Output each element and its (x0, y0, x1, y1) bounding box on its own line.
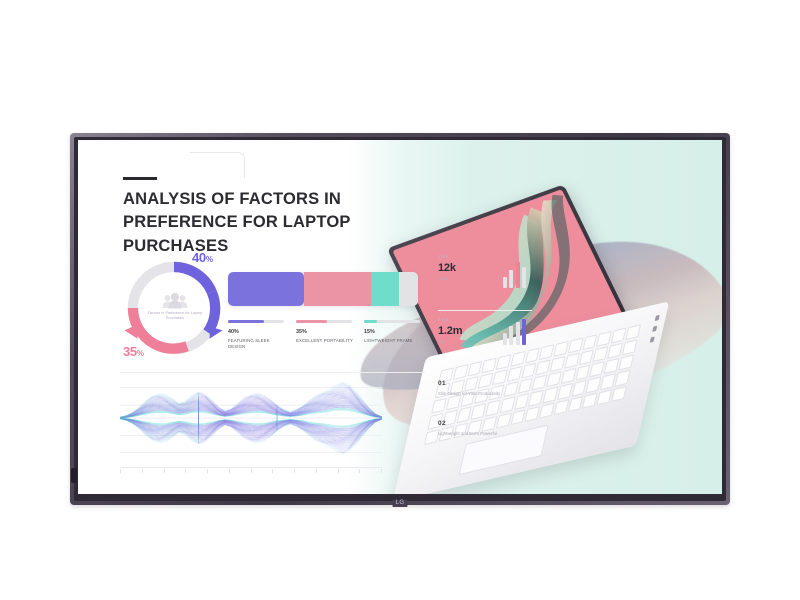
legend-item: 15%LIGHTWEIGHT FRAME (364, 320, 422, 350)
axis-tick (381, 469, 382, 473)
monitor-power-button[interactable] (71, 468, 77, 483)
axis-tick (272, 469, 273, 473)
waveform-axis-ticks (120, 469, 382, 474)
feature-number: 02 (438, 420, 530, 427)
axis-tick (142, 469, 143, 473)
feature-list-item: 02Lightweight and Even Powerful (438, 420, 530, 438)
donut-caption: Factors in Preference for Laptop Purchas… (146, 311, 204, 321)
monthly-stats-panel: JAN12k+432FEB1.2m+2k (438, 254, 532, 366)
stacked-bar-legend: 40%FEATURING SLEEK DESIGN35%EXCELLENT PO… (228, 320, 424, 350)
donut-value-secondary-unit: % (137, 349, 144, 358)
monthly-stat-card: JAN12k+432 (438, 254, 532, 310)
people-group-icon (162, 293, 188, 309)
axis-tick (359, 469, 360, 473)
sparkline-chart (503, 319, 527, 345)
feature-text: Slim Design for Your Productivity (438, 391, 530, 398)
legend-track (228, 320, 284, 323)
sparkline-bar (509, 326, 513, 345)
axis-tick (294, 469, 295, 473)
legend-track (296, 320, 352, 323)
lg-brand-logo: LG (392, 500, 407, 507)
lg-monitor-device: LG (70, 133, 730, 505)
sparkline-bar (522, 319, 526, 345)
donut-value-secondary: 35% (123, 344, 144, 359)
section-divider (120, 372, 425, 373)
legend-label: EXCELLENT PORTABILITY (296, 338, 354, 344)
sparkline-bar (522, 267, 526, 288)
legend-label: FEATURING SLEEK DESIGN (228, 338, 286, 351)
donut-chart: Factors in Preference for Laptop Purchas… (118, 252, 238, 362)
monitor-bezel: LG (74, 137, 726, 501)
axis-tick (164, 469, 165, 473)
legend-percent: 35% (296, 329, 354, 335)
sparkline-bar (503, 277, 507, 288)
feature-list-item: 01Slim Design for Your Productivity (438, 380, 530, 398)
sparkline-bar (516, 262, 520, 288)
axis-tick (251, 469, 252, 473)
donut-center-label: Factors in Preference for Laptop Purchas… (144, 276, 206, 338)
legend-label: LIGHTWEIGHT FRAME (364, 338, 422, 344)
stacked-bar-segment (371, 272, 400, 306)
feature-text: Lightweight and Even Powerful (438, 431, 530, 438)
donut-value-secondary-number: 35 (123, 344, 137, 359)
donut-value-primary: 40% (192, 250, 213, 265)
stacked-bar-segment (228, 272, 304, 306)
feature-list: 01Slim Design for Your Productivity02Lig… (438, 380, 530, 460)
legend-fill (228, 320, 264, 323)
leader-line (190, 152, 245, 178)
legend-fill (296, 320, 327, 323)
monitor-screen: ANALYSIS OF FACTORS IN PREFERENCE FOR LA… (78, 140, 722, 494)
sparkline-chart (503, 262, 527, 288)
screenshot-root: LG (0, 0, 800, 600)
legend-track (364, 320, 420, 323)
axis-tick (120, 469, 121, 473)
sparkline-bar (509, 270, 513, 288)
axis-tick (229, 469, 230, 473)
sparkline-bar (503, 333, 507, 345)
stat-month-label: JAN (438, 254, 532, 259)
donut-value-primary-unit: % (206, 255, 213, 264)
monthly-stat-card: FEB1.2m+2k (438, 310, 532, 366)
waveform-chart (120, 378, 382, 478)
legend-percent: 15% (364, 329, 422, 335)
waveform-chart-svg (120, 378, 382, 458)
donut-value-primary-number: 40 (192, 250, 206, 265)
legend-percent: 40% (228, 329, 286, 335)
axis-tick (207, 469, 208, 473)
page-title-line-1: ANALYSIS OF FACTORS IN (123, 188, 453, 211)
legend-item: 40%FEATURING SLEEK DESIGN (228, 320, 286, 350)
page-title: ANALYSIS OF FACTORS IN PREFERENCE FOR LA… (123, 188, 453, 258)
legend-fill (364, 320, 377, 323)
stacked-bar-segment (304, 272, 371, 306)
legend-item: 35%EXCELLENT PORTABILITY (296, 320, 354, 350)
feature-number: 01 (438, 380, 530, 387)
axis-tick (338, 469, 339, 473)
axis-tick (185, 469, 186, 473)
stacked-bar-chart (228, 272, 418, 306)
slide-content: ANALYSIS OF FACTORS IN PREFERENCE FOR LA… (78, 140, 722, 494)
sparkline-bar (516, 322, 520, 345)
axis-tick (316, 469, 317, 473)
waveform-axis-line (120, 467, 382, 468)
title-accent-rule (123, 177, 157, 180)
